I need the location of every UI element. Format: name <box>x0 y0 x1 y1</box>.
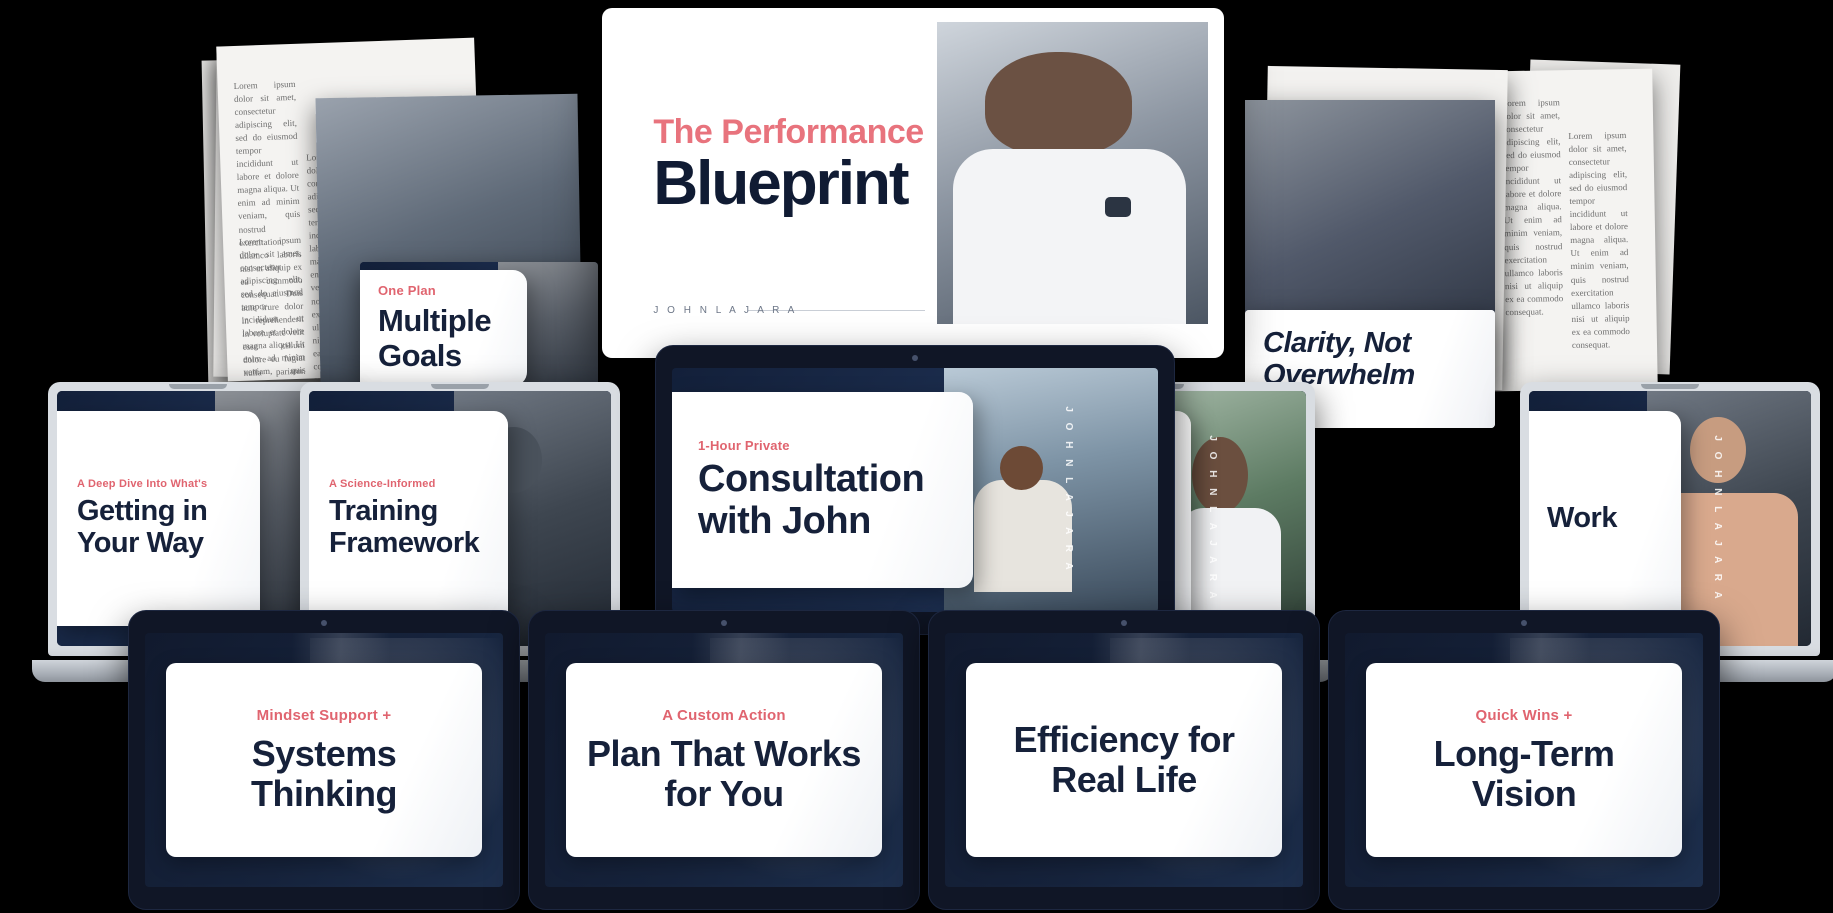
tablet-long-term-vision: Quick Wins + Long-Term Vision <box>1328 610 1720 910</box>
laptop-2-headline: Training Framework <box>329 496 488 560</box>
hero-monitor: The Performance Blueprint J O H N L A J … <box>602 8 1224 358</box>
slide-multiple-goals-eyebrow: One Plan <box>378 283 509 298</box>
tablet-consultation-brand: J O H N L A J A R A <box>1063 406 1074 573</box>
hero-brand: J O H N L A J A R A <box>653 305 797 316</box>
tablet-1-eyebrow: Mindset Support + <box>257 707 392 724</box>
laptop-1-eyebrow: A Deep Dive Into What's <box>77 478 240 490</box>
tablet-systems-thinking: Mindset Support + Systems Thinking <box>128 610 520 910</box>
tablet-efficiency-real-life: Efficiency for Real Life <box>928 610 1320 910</box>
paper-left-column-2: Lorem ipsum dolor sit amet, consectetur … <box>239 234 315 382</box>
hero-portrait-photo <box>937 22 1208 324</box>
hero-title: Blueprint <box>653 148 923 219</box>
hero-screen: The Performance Blueprint J O H N L A J … <box>618 22 1208 324</box>
slide-multiple-goals-headline: Multiple Goals <box>378 304 509 372</box>
tablet-3-headline: Efficiency for Real Life <box>980 720 1267 799</box>
paper-right-column-2: Lorem ipsum dolor sit amet, consectetur … <box>1568 129 1630 352</box>
tablet-1-headline: Systems Thinking <box>180 734 467 813</box>
laptop-1-headline: Getting in Your Way <box>77 496 240 560</box>
mockup-collage: Lorem ipsum dolor sit amet, consectetur … <box>0 0 1833 913</box>
tablet-consultation: 1-Hour Private Consultation with John J … <box>655 345 1175 635</box>
tablet-2-headline: Plan That Works for You <box>580 734 867 813</box>
laptop-2-eyebrow: A Science-Informed <box>329 478 488 490</box>
slide-multiple-goals: One Plan Multiple Goals <box>360 262 598 394</box>
tablet-consultation-eyebrow: 1-Hour Private <box>698 438 947 453</box>
tablet-4-headline: Long-Term Vision <box>1380 734 1667 813</box>
laptop-4-brand: J O H N L A J A R A <box>1712 435 1723 602</box>
laptop-4-headline: Work <box>1547 503 1663 535</box>
paper-right-front: Lorem ipsum dolor sit amet, consectetur … <box>1487 69 1658 392</box>
tablet-consultation-headline: Consultation with John <box>698 459 947 543</box>
tablet-4-eyebrow: Quick Wins + <box>1476 707 1573 724</box>
tablet-plan-that-works: A Custom Action Plan That Works for You <box>528 610 920 910</box>
tablet-2-eyebrow: A Custom Action <box>662 707 786 724</box>
paper-right-column-1: Lorem ipsum dolor sit amet, consectetur … <box>1502 96 1564 319</box>
laptop-3-brand: J O H N L A J A R A <box>1207 435 1218 602</box>
hero-eyebrow: The Performance <box>653 113 923 152</box>
